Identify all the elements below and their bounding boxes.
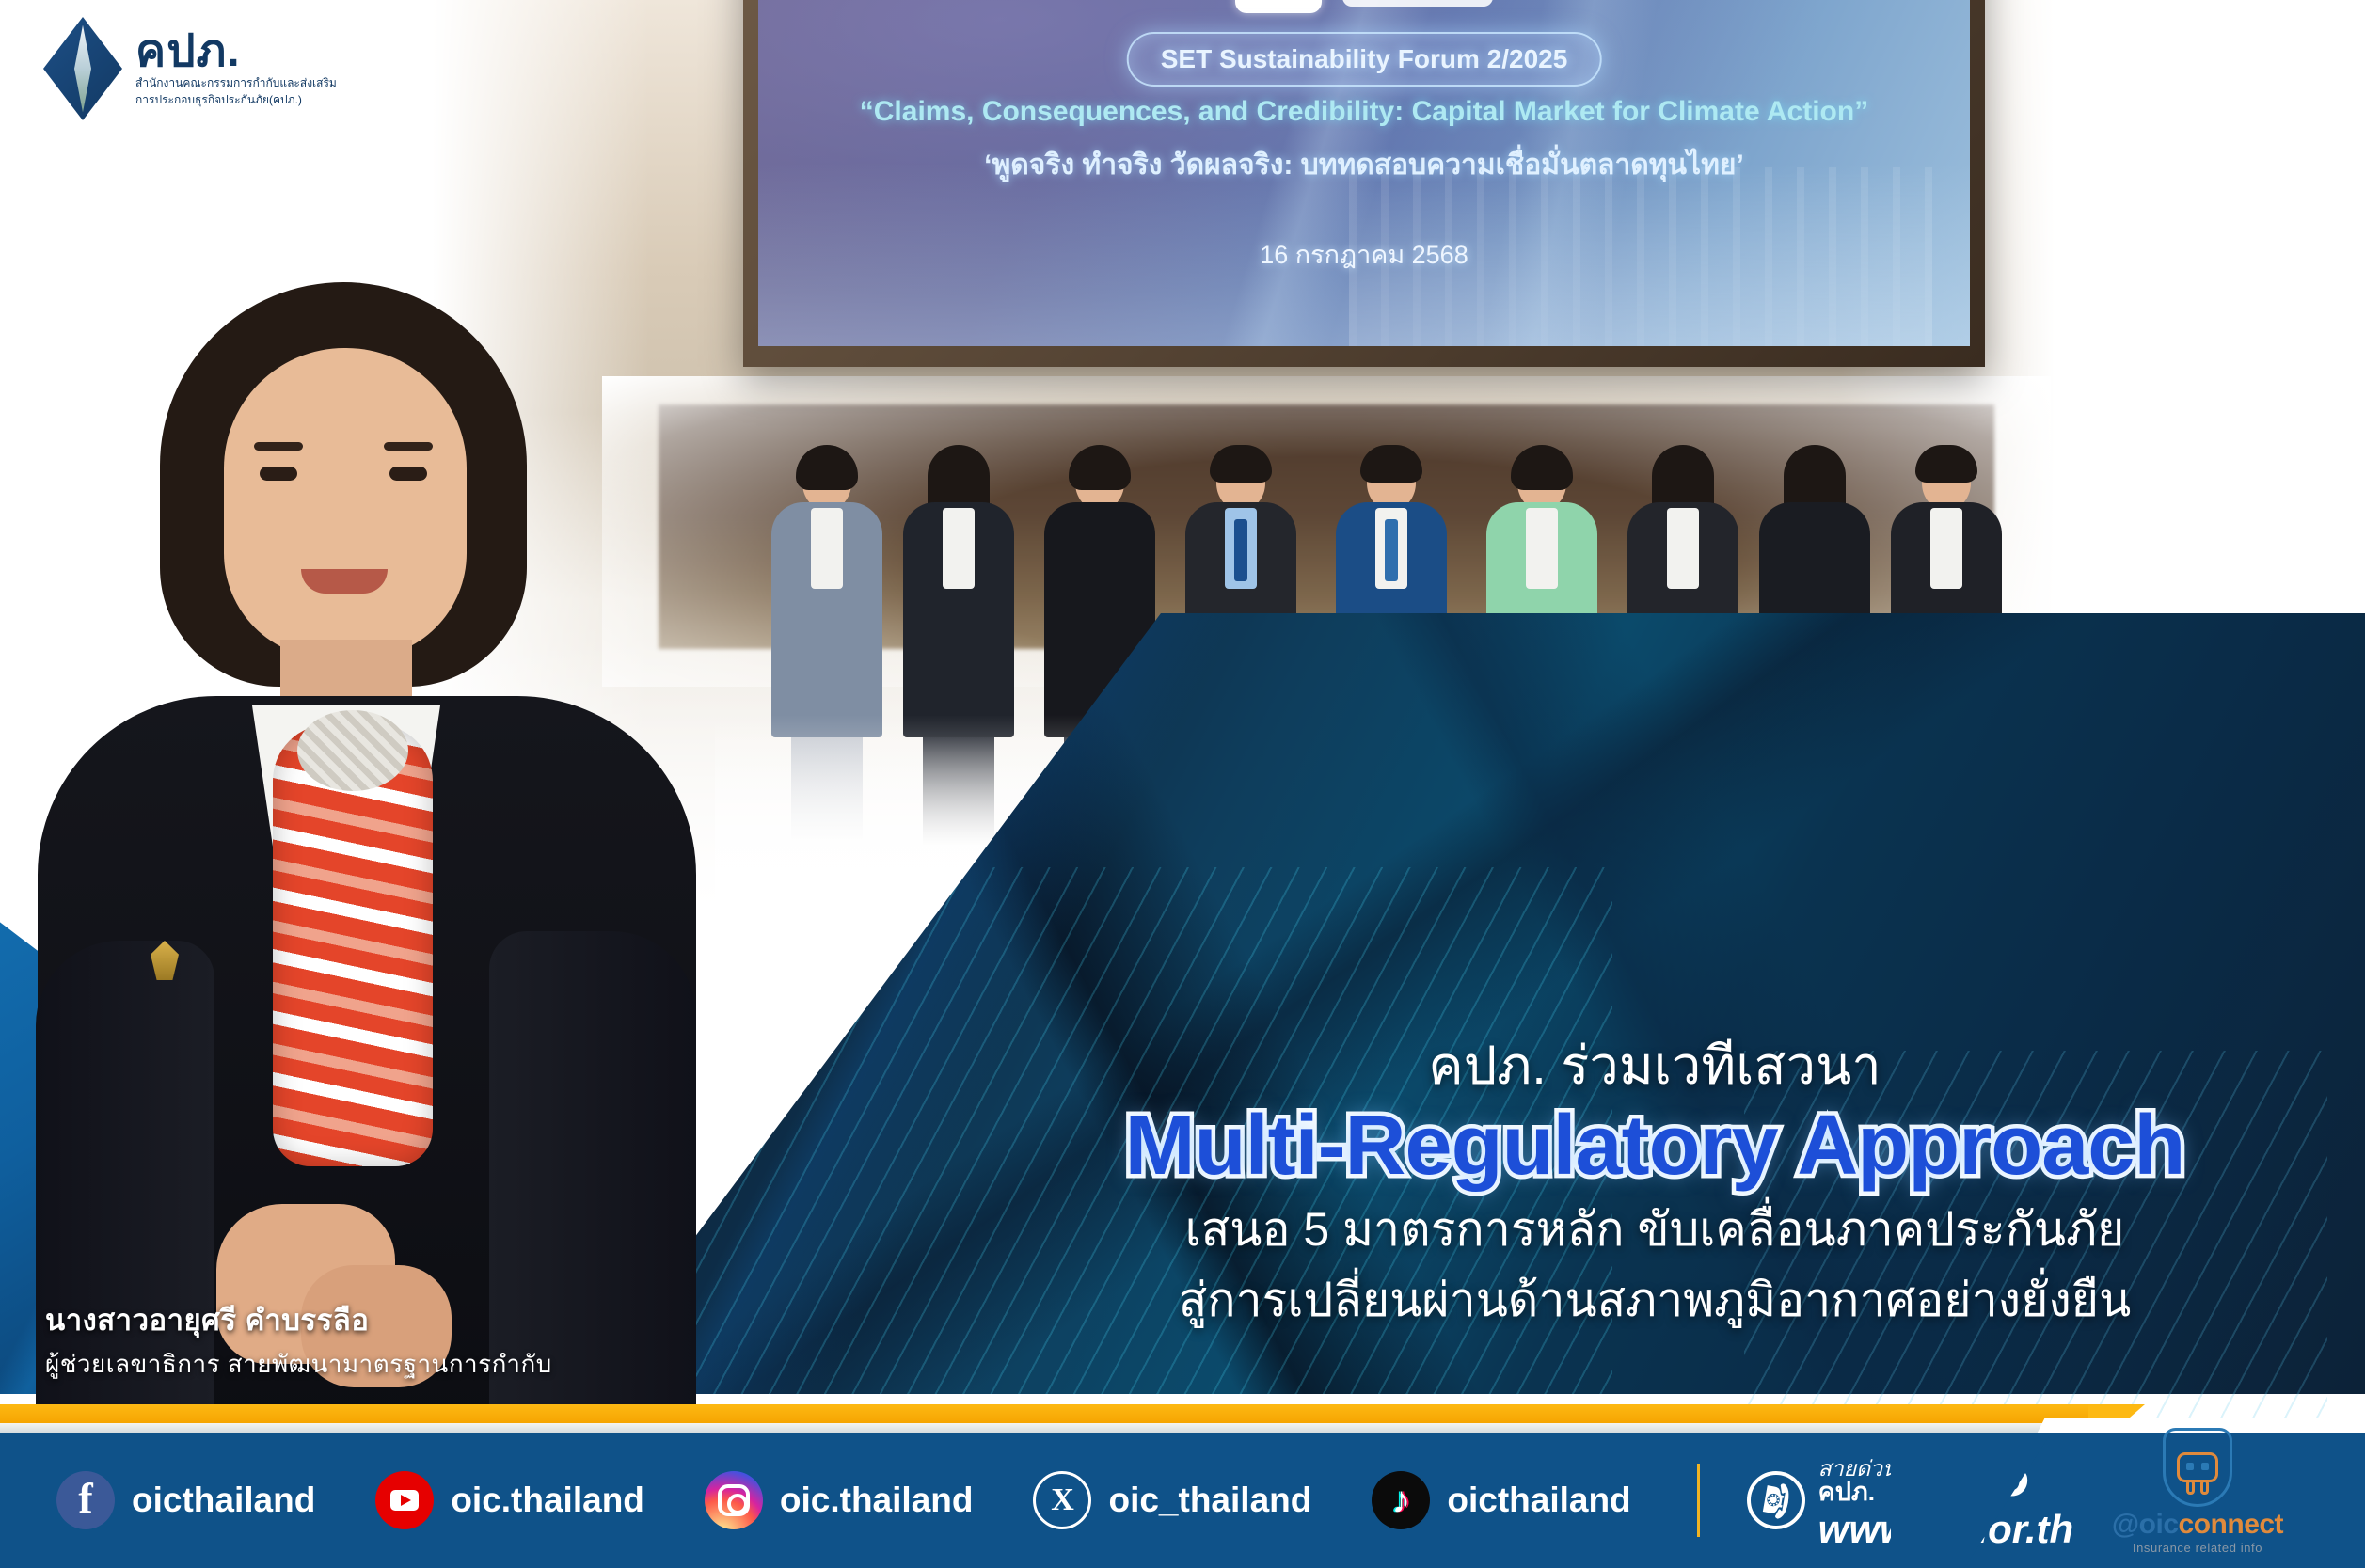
x-twitter-icon[interactable]: X (1033, 1471, 1091, 1529)
oicconnect-subtitle: Insurance related info (2085, 1541, 2310, 1555)
person-head (1216, 451, 1265, 510)
person-hair (1360, 445, 1422, 483)
person-head (1659, 451, 1707, 510)
oic-fullname-line2: การประกอบธุรกิจประกันภัย(คปภ.) (135, 93, 337, 107)
person-head (1790, 451, 1839, 510)
social-links: f oicthailand oic.thailand oic.thailand … (0, 1449, 2073, 1552)
portrait-brow-right (384, 442, 433, 451)
headline-subline-2: สู่การเปลี่ยนผ่านด้านสภาพภูมิอากาศอย่างย… (982, 1268, 2327, 1333)
set-50-anniversary-logo: 50SET (1235, 0, 1322, 13)
person-shirt (943, 508, 975, 589)
facebook-icon[interactable]: f (56, 1471, 115, 1529)
person-head (1922, 451, 1971, 510)
oicconnect-name-prefix: @oic (2112, 1509, 2179, 1540)
social-youtube[interactable]: oic.thailand (375, 1471, 644, 1529)
social-facebook[interactable]: f oicthailand (56, 1471, 315, 1529)
portrait-eye-right (389, 467, 427, 481)
oicconnect-badge[interactable]: @oicconnect Insurance related info (2085, 1428, 2310, 1555)
oicconnect-name-suffix: connect (2179, 1509, 2284, 1540)
headline-main-title: Multi-Regulatory Approach (982, 1101, 2327, 1192)
tiktok-note-glyph: ♪ (1391, 1481, 1410, 1519)
social-x-twitter[interactable]: X oic_thailand (1033, 1471, 1311, 1529)
youtube-icon[interactable] (375, 1471, 434, 1529)
projection-screen: 50SET SET ESG ACADEMY SET Sustainability… (758, 0, 1970, 346)
youtube-handle: oic.thailand (451, 1481, 644, 1520)
youtube-play-glyph (390, 1490, 419, 1511)
speaker-position: ผู้ช่วยเลขาธิการ สายพัฒนามาตรฐานการกำกับ (45, 1345, 552, 1384)
hotline-labels: สายด่วน คปภ. (1818, 1458, 1897, 1505)
person-tie (1385, 519, 1398, 581)
tiktok-handle: oicthailand (1447, 1481, 1630, 1520)
screen-event-date: 16 กรกฎาคม 2568 (758, 234, 1970, 275)
instagram-camera-glyph (718, 1484, 750, 1516)
forum-title-pill: SET Sustainability Forum 2/2025 (1127, 32, 1602, 87)
portrait-scarf-knot (297, 710, 408, 791)
person-hair (1915, 445, 1977, 483)
gold-accent-strip (0, 1404, 2098, 1425)
poster-root: 50SET SET ESG ACADEMY SET Sustainability… (0, 0, 2365, 1568)
instagram-icon[interactable] (705, 1471, 763, 1529)
shield-icon (2163, 1428, 2232, 1507)
social-tiktok[interactable]: ♪ oicthailand (1372, 1471, 1630, 1529)
x-twitter-handle: oic_thailand (1108, 1481, 1311, 1520)
screen-logo-row: 50SET SET ESG ACADEMY (1235, 0, 1493, 13)
phone-icon: ☎ (1747, 1471, 1805, 1529)
screen-title-thai: ‘พูดจริง ทำจริง วัดผลจริง: บททดสอบความเช… (758, 143, 1970, 187)
person-hair (1210, 445, 1272, 483)
screen-title-english: “Claims, Consequences, and Credibility: … (758, 96, 1970, 128)
set-esg-academy-logo: SET ESG ACADEMY (1342, 0, 1493, 7)
oic-logo: คปภ. สำนักงานคณะกรรมการกำกับและส่งเสริม … (43, 17, 337, 120)
portrait-face (224, 348, 467, 658)
person-shirt (1526, 508, 1558, 589)
facebook-glyph: f (78, 1477, 92, 1520)
hotline-label-oic: คปภ. (1818, 1480, 1897, 1505)
person-shirt (1930, 508, 1962, 589)
chatbot-icon (2177, 1452, 2218, 1482)
speaker-caption: นางสาวอายุศรี คำบรรลือ ผู้ช่วยเลขาธิการ … (45, 1296, 552, 1384)
oic-diamond-icon (43, 17, 122, 120)
x-glyph: X (1051, 1482, 1074, 1518)
oic-logo-text: คปภ. สำนักงานคณะกรรมการกำกับและส่งเสริม … (135, 30, 337, 107)
person-shirt (1667, 508, 1699, 589)
person-head (1075, 451, 1124, 510)
portrait-eye-left (260, 467, 297, 481)
social-instagram[interactable]: oic.thailand (705, 1471, 974, 1529)
headline-kicker: คปภ. ร่วมเวทีเสวนา (982, 1033, 2327, 1099)
tiktok-icon[interactable]: ♪ (1372, 1471, 1430, 1529)
oic-fullname-line1: สำนักงานคณะกรรมการกำกับและส่งเสริม (135, 76, 337, 90)
set-50-number: 50 (1253, 0, 1285, 1)
person-tie (1234, 519, 1247, 581)
portrait-mouth (301, 569, 388, 594)
speaker-portrait (19, 282, 734, 1449)
person-head (802, 451, 851, 510)
person-head (1517, 451, 1566, 510)
person-hair (1511, 445, 1573, 490)
oic-acronym: คปภ. (135, 30, 337, 73)
phone-glyph: ☎ (1754, 1478, 1798, 1524)
person-head (1367, 451, 1416, 510)
oicconnect-name: @oicconnect (2085, 1509, 2310, 1541)
person-body (903, 502, 1014, 737)
person-body (771, 502, 882, 737)
portrait-brow-left (254, 442, 303, 451)
projection-screen-frame: 50SET SET ESG ACADEMY SET Sustainability… (743, 0, 1985, 367)
chatbot-ear-left (2186, 1480, 2195, 1495)
person-head (934, 451, 983, 510)
instagram-handle: oic.thailand (780, 1481, 974, 1520)
person-hair (796, 445, 858, 490)
person-shirt (811, 508, 843, 589)
speaker-name: นางสาวอายุศรี คำบรรลือ (45, 1296, 552, 1343)
headline-subline-1: เสนอ 5 มาตรการหลัก ขับเคลื่อนภาคประกันภั… (982, 1197, 2327, 1262)
person-hair (1069, 445, 1131, 490)
footer-divider (1697, 1464, 1700, 1537)
headline-block: คปภ. ร่วมเวทีเสวนา Multi-Regulatory Appr… (982, 1033, 2327, 1333)
facebook-handle: oicthailand (132, 1481, 315, 1520)
chatbot-ear-right (2200, 1480, 2209, 1495)
